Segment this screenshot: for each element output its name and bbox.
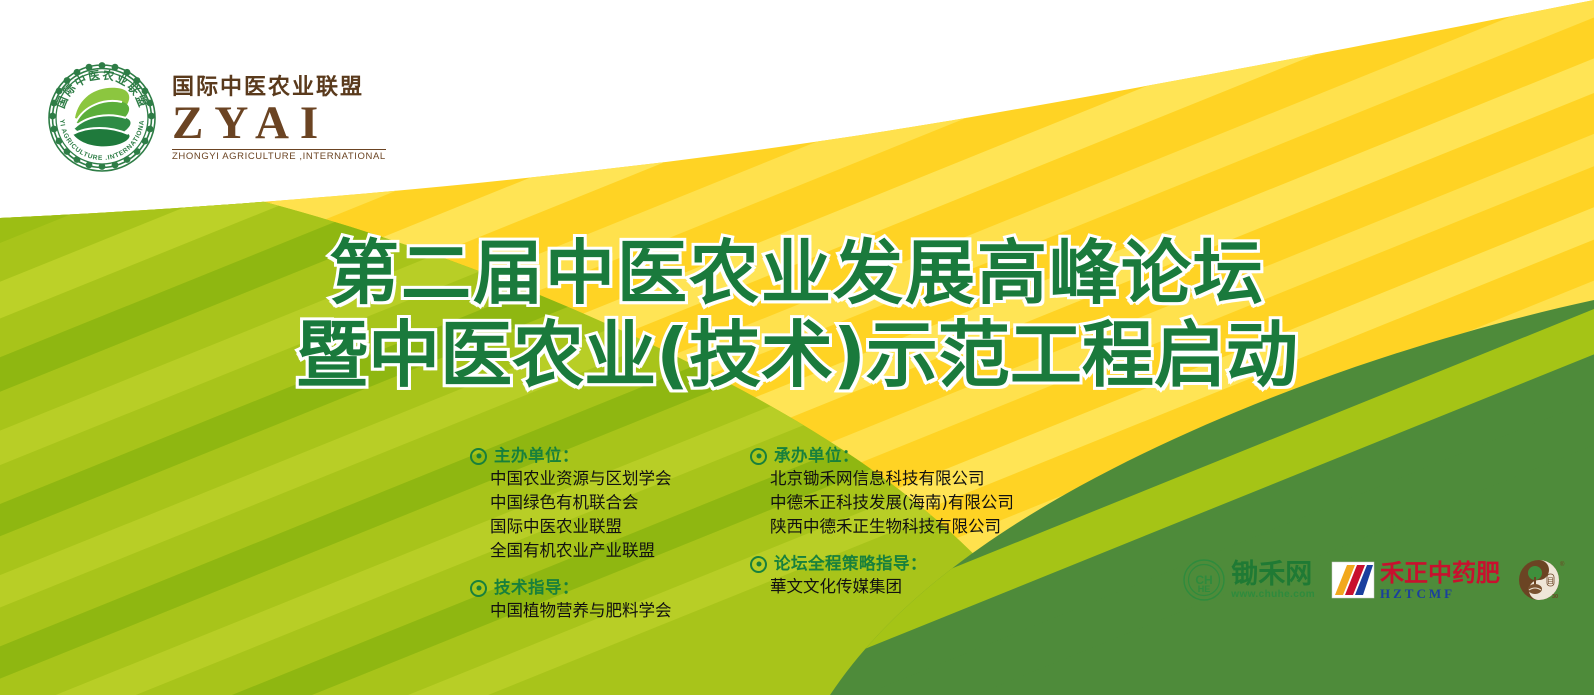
info-heading-label: 主办单位： [494, 445, 579, 467]
info-group-strategy: 论坛全程策略指导： 華文文化传媒集团 [750, 553, 1050, 599]
chuhe-seal-icon: CH HE [1183, 559, 1225, 601]
chuhe-url: www.chuhe.com [1231, 590, 1315, 600]
zyai-acronym: ZYAI [172, 100, 386, 148]
sponsor-logos: CH HE 锄禾网 www.chuhe.com 禾正中药肥 [1183, 557, 1566, 603]
info-group-technical-guidance: 技术指导： 中国植物营养与肥料学会 [470, 577, 732, 623]
sponsor-tree-circle: 目 ® 30 [1516, 557, 1566, 603]
sponsor-chuhe: CH HE 锄禾网 www.chuhe.com [1183, 559, 1315, 601]
list-item: 陕西中德禾正生物科技有限公司 [750, 515, 1050, 539]
info-heading: 技术指导： [470, 577, 732, 599]
info-column-left: 主办单位： 中国农业资源与区划学会 中国绿色有机联合会 国际中医农业联盟 全国有… [470, 445, 732, 637]
info-heading-label: 技术指导： [494, 577, 579, 599]
svg-text:®: ® [1560, 561, 1565, 568]
info-heading: 主办单位： [470, 445, 732, 467]
chuhe-name-cn: 锄禾网 [1231, 561, 1315, 588]
zyai-logo: 国际中医农业联盟 ZHONGYI AGRICULTURE .INTERNATIO… [46, 62, 386, 174]
list-item: 国际中医农业联盟 [470, 515, 732, 539]
zyai-wordmark: 国际中医农业联盟 ZYAI ZHONGYI AGRICULTURE ,INTER… [172, 75, 386, 161]
info-group-host: 主办单位： 中国农业资源与区划学会 中国绿色有机联合会 国际中医农业联盟 全国有… [470, 445, 732, 563]
bullet-icon [470, 580, 487, 597]
list-item: 中德禾正科技发展(海南)有限公司 [750, 491, 1050, 515]
organizer-info: 主办单位： 中国农业资源与区划学会 中国绿色有机联合会 国际中医农业联盟 全国有… [470, 445, 1050, 637]
info-heading: 承办单位： [750, 445, 1050, 467]
svg-text:30: 30 [1552, 594, 1558, 600]
chuhe-wordmark: 锄禾网 www.chuhe.com [1231, 561, 1315, 600]
info-heading-label: 承办单位： [774, 445, 859, 467]
bullet-icon [470, 448, 487, 465]
zyai-seal-icon: 国际中医农业联盟 ZHONGYI AGRICULTURE .INTERNATIO… [46, 62, 158, 174]
list-item: 中国绿色有机联合会 [470, 491, 732, 515]
list-item: 北京锄禾网信息科技有限公司 [750, 467, 1050, 491]
zyai-name-cn: 国际中医农业联盟 [172, 77, 386, 99]
hztcmf-wordmark: 禾正中药肥 HZTCMF [1380, 561, 1500, 600]
info-heading-label: 论坛全程策略指导： [774, 553, 927, 575]
list-item: 全国有机农业产业联盟 [470, 539, 732, 563]
hztcmf-name-en: HZTCMF [1380, 587, 1500, 600]
svg-text:目: 目 [1547, 577, 1554, 585]
zyai-name-en: ZHONGYI AGRICULTURE ,INTERNATIONAL [172, 149, 386, 162]
bullet-icon [750, 556, 767, 573]
hztcmf-mark-icon [1331, 561, 1375, 599]
info-group-organizer: 承办单位： 北京锄禾网信息科技有限公司 中德禾正科技发展(海南)有限公司 陕西中… [750, 445, 1050, 539]
hztcmf-name-cn: 禾正中药肥 [1380, 561, 1500, 585]
info-heading: 论坛全程策略指导： [750, 553, 1050, 575]
list-item: 華文文化传媒集团 [750, 575, 1050, 599]
info-column-right: 承办单位： 北京锄禾网信息科技有限公司 中德禾正科技发展(海南)有限公司 陕西中… [750, 445, 1050, 637]
list-item: 中国植物营养与肥料学会 [470, 599, 732, 623]
event-banner: 国际中医农业联盟 ZHONGYI AGRICULTURE .INTERNATIO… [0, 0, 1594, 695]
sponsor-hztcmf: 禾正中药肥 HZTCMF [1331, 561, 1500, 600]
svg-text:HE: HE [1198, 584, 1211, 594]
bullet-icon [750, 448, 767, 465]
list-item: 中国农业资源与区划学会 [470, 467, 732, 491]
